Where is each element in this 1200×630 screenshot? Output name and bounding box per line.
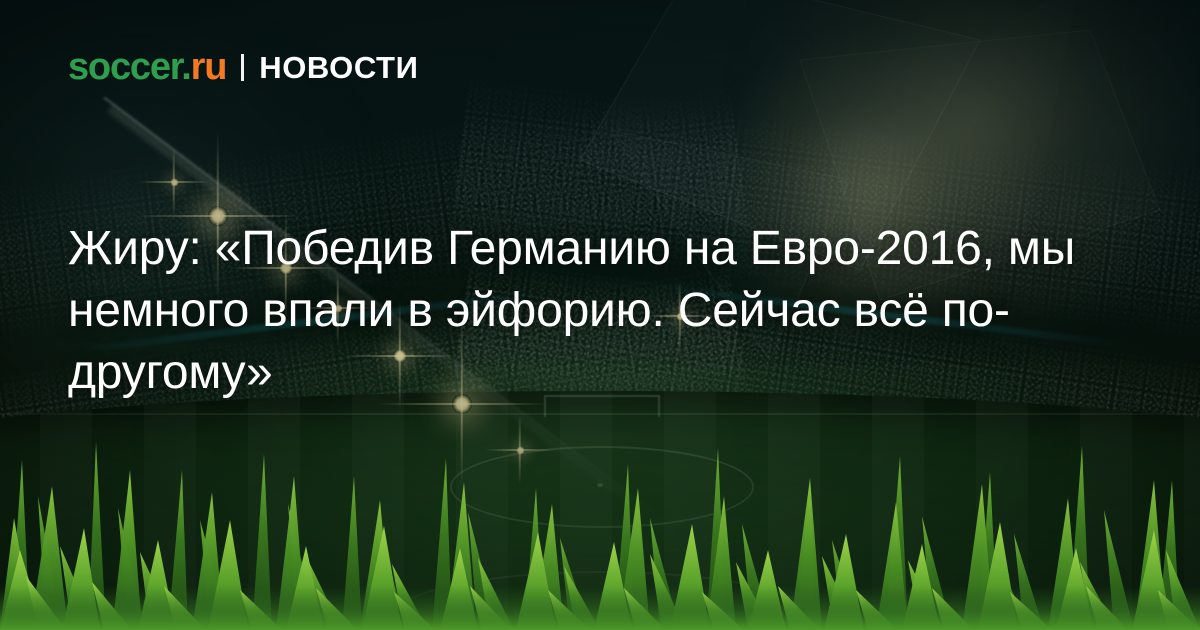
header-divider xyxy=(241,54,244,81)
logo-dot: . xyxy=(181,46,190,88)
logo-tld: ru xyxy=(191,46,227,88)
section-label: НОВОСТИ xyxy=(259,52,418,83)
logo-name: soccer xyxy=(68,46,181,88)
site-header: soccer.ru НОВОСТИ xyxy=(68,48,418,86)
soccer-ru-logo[interactable]: soccer.ru xyxy=(68,48,226,86)
news-share-card: soccer.ru НОВОСТИ Жиру: «Победив Германи… xyxy=(0,0,1200,630)
page-title: Жиру: «Победив Германию на Евро-2016, мы… xyxy=(68,218,1118,404)
